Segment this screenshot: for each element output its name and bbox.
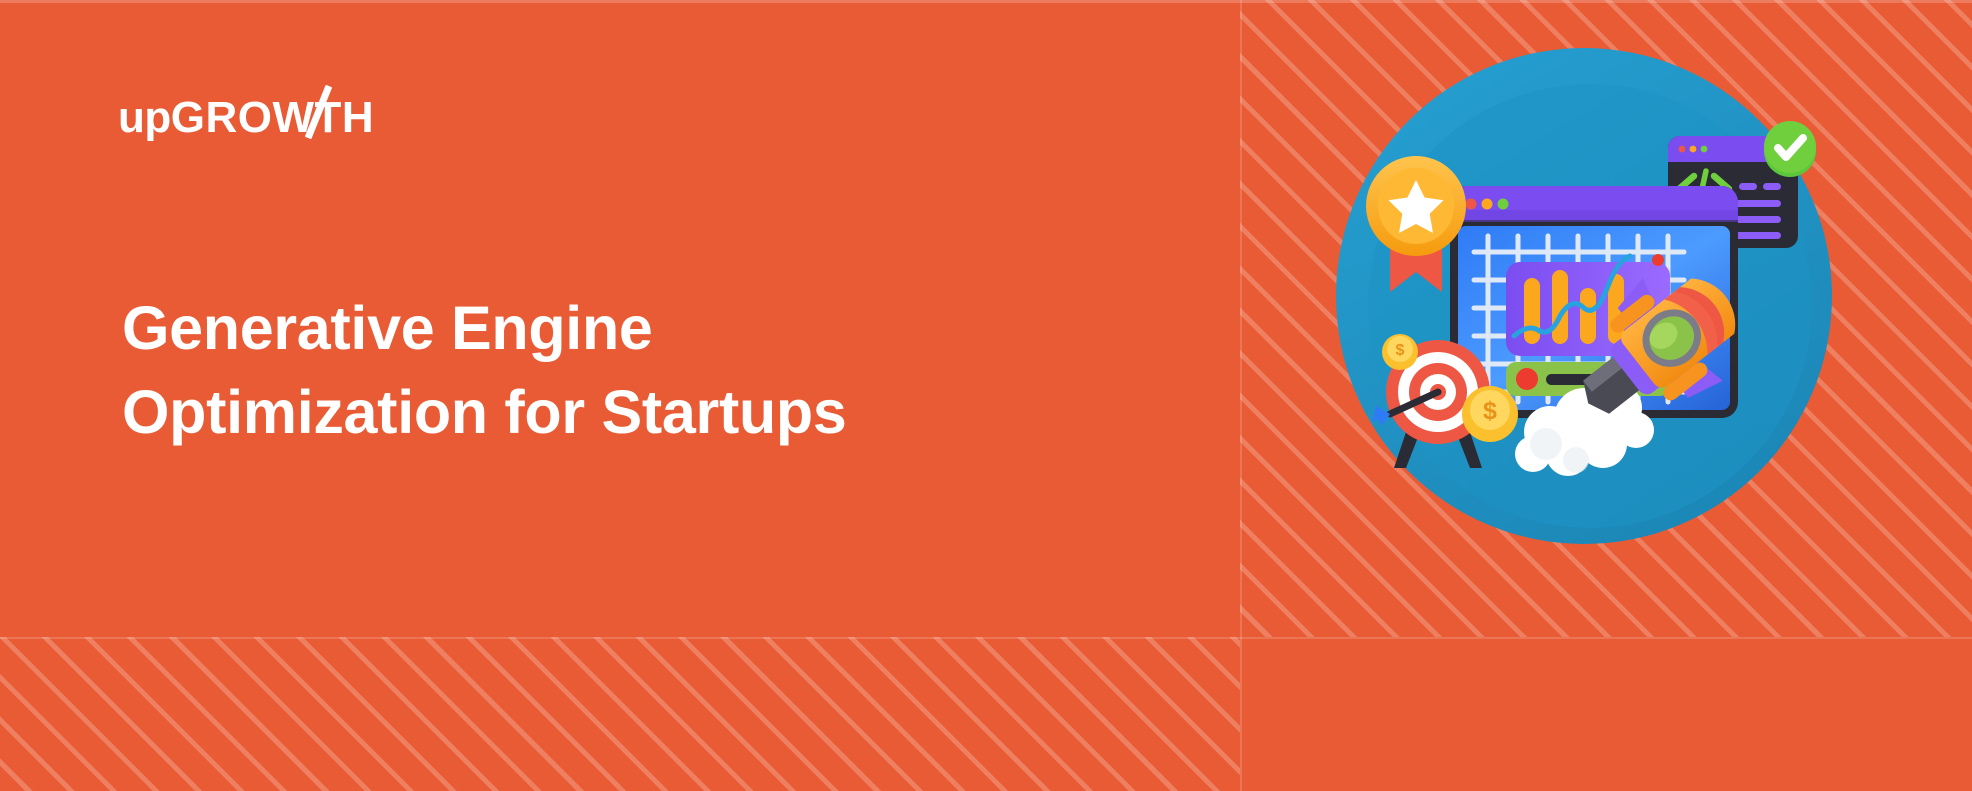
quadrant-bottom-left [0, 637, 1240, 791]
content-left: up GROWTH Generative Engine Optimization… [0, 0, 1240, 637]
headline-line-2: Optimization for Startups [122, 370, 1122, 454]
horizontal-divider [0, 637, 1972, 639]
svg-text:$: $ [1396, 342, 1405, 359]
logo-text-growth: GROWTH [171, 93, 374, 142]
vertical-divider [1240, 0, 1242, 791]
logo-growth-wrapper: GROWTH [171, 96, 374, 140]
headline-line-1: Generative Engine [122, 286, 1122, 370]
logo-text-up: up [118, 96, 171, 140]
brand-logo[interactable]: up GROWTH [118, 96, 374, 140]
banner: up GROWTH Generative Engine Optimization… [0, 0, 1972, 791]
check-badge-icon [1764, 121, 1816, 177]
hero-illustration: $ $ [1328, 40, 1840, 552]
page-title: Generative Engine Optimization for Start… [122, 286, 1122, 454]
svg-text:$: $ [1483, 397, 1497, 425]
quadrant-bottom-right [1240, 637, 1972, 791]
